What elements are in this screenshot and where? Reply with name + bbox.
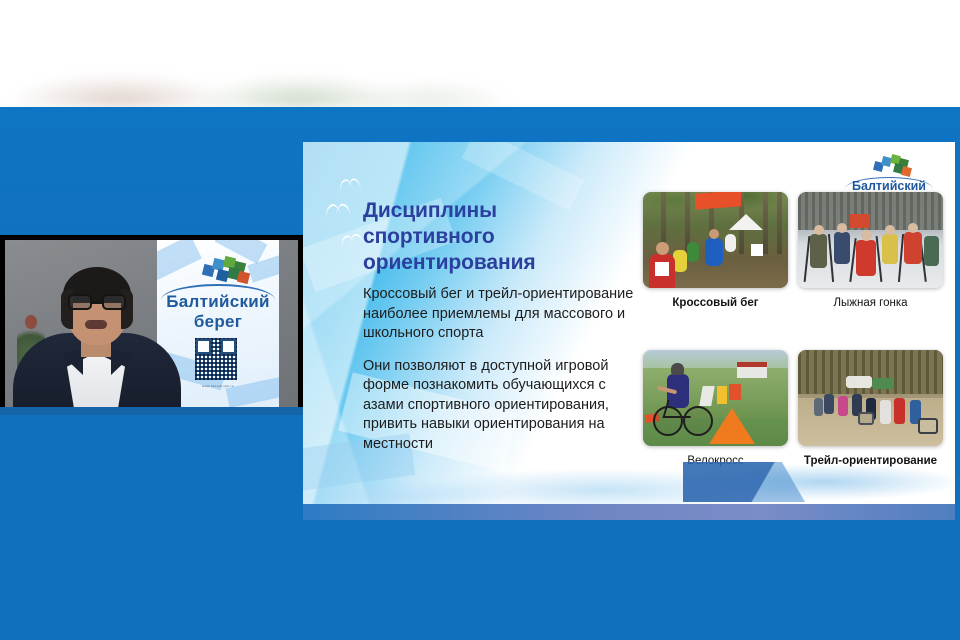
video-panel-bottom-bar <box>0 407 303 415</box>
cubes-logo-icon <box>201 256 247 286</box>
banner-shard <box>226 376 279 408</box>
slide-title-line: Дисциплины <box>363 198 653 224</box>
photo-ski-race-group <box>798 192 943 288</box>
webcam-video-frame: Балтийский берег www.bbclub.spb.ru <box>5 240 298 415</box>
cubes-logo-icon <box>873 154 913 178</box>
photo-forest-cross-country-running <box>643 192 788 288</box>
participant-name-badge <box>13 245 61 254</box>
presenter-figure <box>5 240 185 415</box>
seagull-icon <box>338 178 361 191</box>
slide-bottom-bar <box>303 504 955 520</box>
slide-wave-decoration <box>303 438 955 504</box>
seagull-icon <box>325 204 351 218</box>
slide-paragraph-1: Кроссовый бег и трейл-ориентирование наи… <box>363 285 645 344</box>
slide-body-text: Кроссовый бег и трейл-ориентирование наи… <box>363 285 645 454</box>
slide-title-line: спортивного <box>363 224 653 250</box>
photo-cell: Лыжная гонка <box>798 192 943 309</box>
slide-title: Дисциплины спортивного ориентирования <box>363 198 653 276</box>
slide-title-line: ориентирования <box>363 250 653 276</box>
glasses-icon <box>67 294 127 311</box>
webcam-video-panel[interactable]: Балтийский берег www.bbclub.spb.ru <box>0 235 303 415</box>
photo-cell: Кроссовый бег <box>643 192 788 309</box>
photo-mountain-biker-at-control-flag <box>643 350 788 446</box>
photo-caption: Кроссовый бег <box>643 297 788 309</box>
presentation-slide[interactable]: Дисциплины спортивного ориентирования Кр… <box>303 142 955 520</box>
photo-caption: Лыжная гонка <box>798 297 943 309</box>
slide-logo-line1: Балтийский <box>843 179 935 193</box>
seagull-icon <box>339 233 364 249</box>
presenter-mouth <box>85 320 107 329</box>
qr-code-icon <box>195 338 237 380</box>
screen-root: Балтийский берег www.bbclub.spb.ru <box>0 0 960 640</box>
top-white-band <box>0 0 960 107</box>
photo-trail-orienteering-group <box>798 350 943 446</box>
